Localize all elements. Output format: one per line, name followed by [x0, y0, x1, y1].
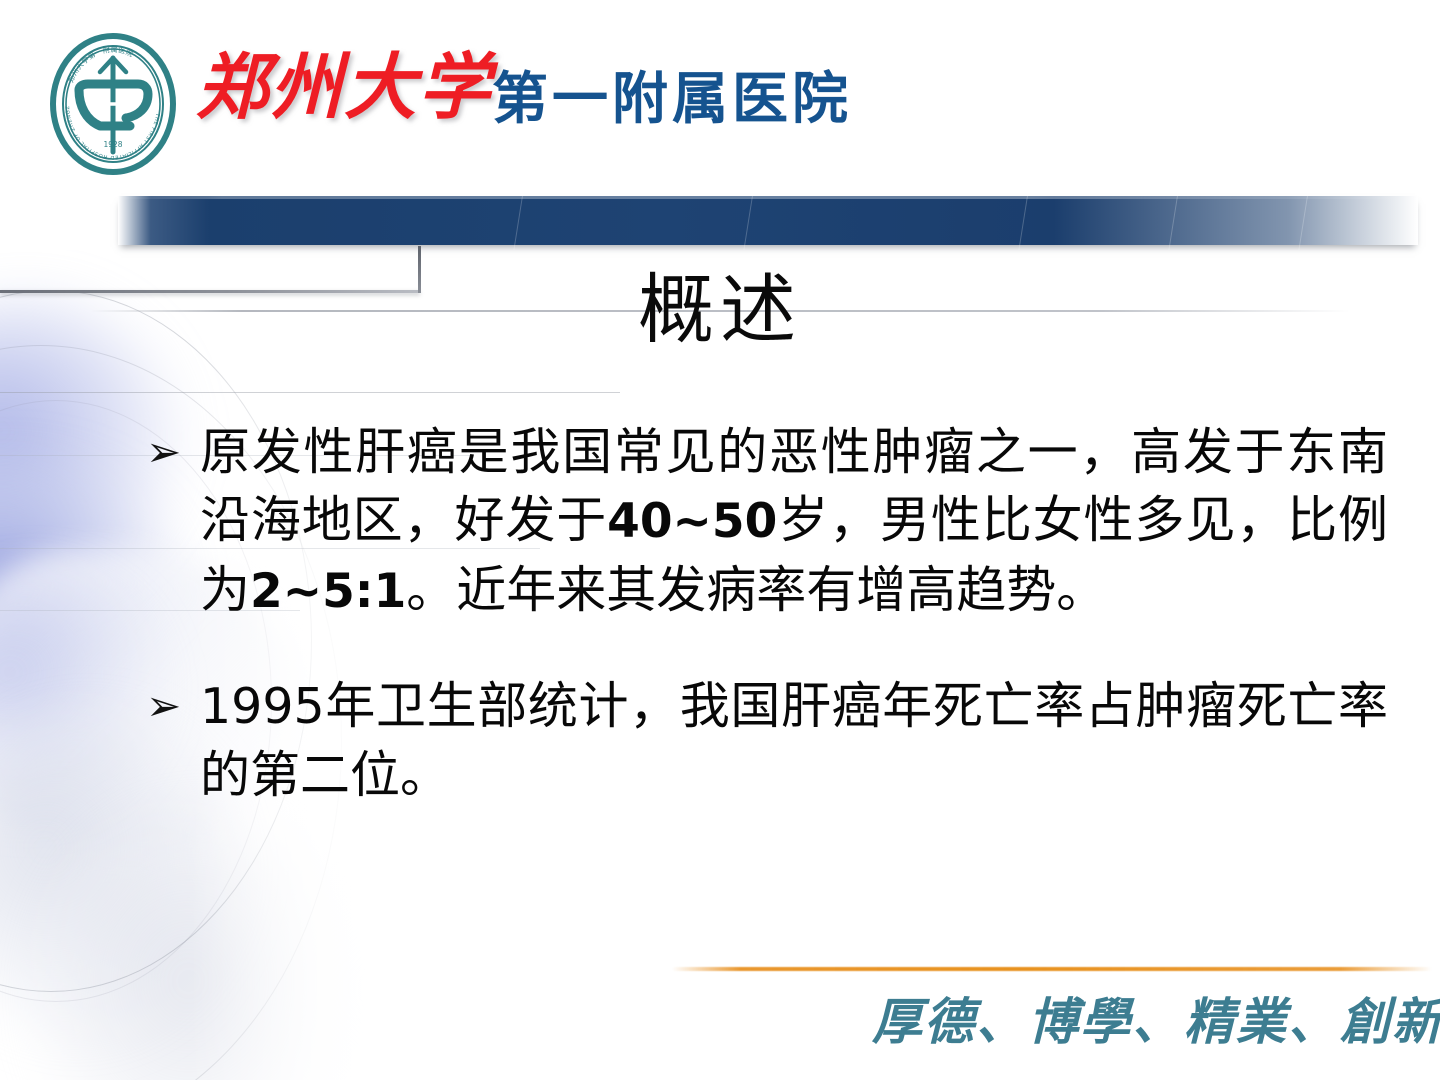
- banner-streak: [513, 192, 523, 250]
- slide-header: 郑州大学第一附属医院 THE FIRST AFFILIATED HOSPITAL…: [0, 0, 1440, 185]
- bullet-arrow-icon: ➢: [0, 418, 146, 486]
- bullet-text-segment: 40~50: [607, 494, 777, 549]
- bullet-arrow-icon: ➢: [0, 672, 146, 740]
- footer-orange-rule: [672, 967, 1432, 971]
- banner-streak: [743, 192, 753, 250]
- brand-university-name: 郑州大学: [196, 52, 492, 124]
- decorative-rule: [0, 392, 620, 393]
- list-item: ➢ 原发性肝癌是我国常见的恶性肿瘤之一，高发于东南沿海地区，好发于40~50岁，…: [0, 418, 1440, 626]
- brand-hospital-name: 第一附属医院: [492, 72, 852, 128]
- banner-streak: [1298, 192, 1308, 250]
- banner-streak: [1168, 192, 1178, 250]
- list-item: ➢ 1995年卫生部统计，我国肝癌年死亡率占肿瘤死亡率的第二位。: [0, 672, 1440, 809]
- bullet-text-segment: 年卫生部统计，我国肝癌年死亡率占肿瘤死亡率的第二位。: [200, 678, 1388, 803]
- bullet-text-segment: 1995: [200, 678, 325, 735]
- emblem-year-label: 1928: [103, 140, 122, 149]
- page-title: 概述: [0, 268, 1440, 355]
- presentation-slide: 郑州大学第一附属医院 THE FIRST AFFILIATED HOSPITAL…: [0, 0, 1440, 1080]
- bullet-text-0: 原发性肝癌是我国常见的恶性肿瘤之一，高发于东南沿海地区，好发于40~50岁，男性…: [146, 418, 1388, 626]
- navy-banner-bar: [118, 196, 1418, 245]
- banner-streak: [1018, 192, 1028, 250]
- footer-motto-calligraphy: 厚德、博學、精業、創新: [872, 995, 1428, 1050]
- bullet-text-segment: 2~5:1: [250, 564, 406, 619]
- slide-title-area: 概述: [0, 268, 1440, 378]
- bullet-text-1: 1995年卫生部统计，我国肝癌年死亡率占肿瘤死亡率的第二位。: [146, 672, 1388, 809]
- hospital-emblem-icon: 郑州大学第一附属医院 THE FIRST AFFILIATED HOSPITAL…: [38, 28, 188, 180]
- slide-body-content: ➢ 原发性肝癌是我国常见的恶性肿瘤之一，高发于东南沿海地区，好发于40~50岁，…: [0, 418, 1440, 868]
- bullet-text-segment: 。近年来其发病率有增高趋势。: [406, 562, 1106, 618]
